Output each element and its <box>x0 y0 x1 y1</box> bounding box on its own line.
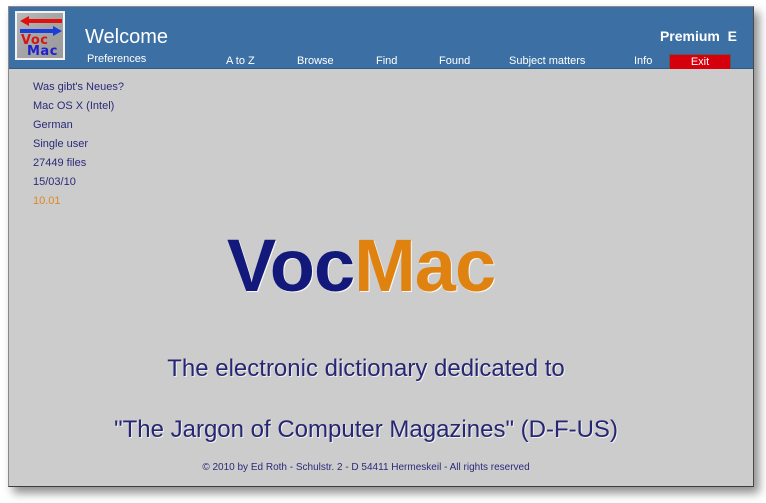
info-line-file-count: 27449 files <box>33 157 233 170</box>
info-line-whats-new[interactable]: Was gibt's Neues? <box>33 81 233 94</box>
brand-wordmark-mac: Mac <box>354 224 495 307</box>
tagline-line-1: The electronic dictionary dedicated to <box>9 357 753 381</box>
logo-text-mac: Mac <box>27 45 58 58</box>
info-line-date: 15/03/10 <box>33 176 233 189</box>
brand-wordmark-voc: Voc <box>227 224 354 307</box>
info-line-platform: Mac OS X (Intel) <box>33 100 233 113</box>
title-bar: Voc Mac Welcome Preferences Premium E A … <box>9 7 753 69</box>
copyright-notice: © 2010 by Ed Roth - Schulstr. 2 - D 5441… <box>9 463 753 473</box>
brand-wordmark: VocMac <box>9 229 753 303</box>
nav-item-a-to-z[interactable]: A to Z <box>226 52 255 70</box>
edition-badge: Premium E <box>660 29 737 43</box>
vocmac-logo[interactable]: Voc Mac <box>15 11 65 60</box>
tagline-line-2: "The Jargon of Computer Magazines" (D-F-… <box>9 418 753 442</box>
info-line-version: 10.01 <box>33 195 233 208</box>
nav-item-browse[interactable]: Browse <box>297 52 334 70</box>
page-title: Welcome <box>85 27 168 47</box>
preferences-link[interactable]: Preferences <box>87 54 146 65</box>
status-info-panel: Was gibt's Neues? Mac OS X (Intel) Germa… <box>33 81 233 214</box>
nav-item-find[interactable]: Find <box>376 52 397 70</box>
application-window: Voc Mac Welcome Preferences Premium E A … <box>8 6 754 487</box>
nav-item-found[interactable]: Found <box>439 52 470 70</box>
info-line-language: German <box>33 119 233 132</box>
nav-item-subject-matters[interactable]: Subject matters <box>509 52 585 70</box>
nav-item-info[interactable]: Info <box>634 52 652 70</box>
main-content: Was gibt's Neues? Mac OS X (Intel) Germa… <box>9 69 753 487</box>
info-line-license: Single user <box>33 138 233 151</box>
